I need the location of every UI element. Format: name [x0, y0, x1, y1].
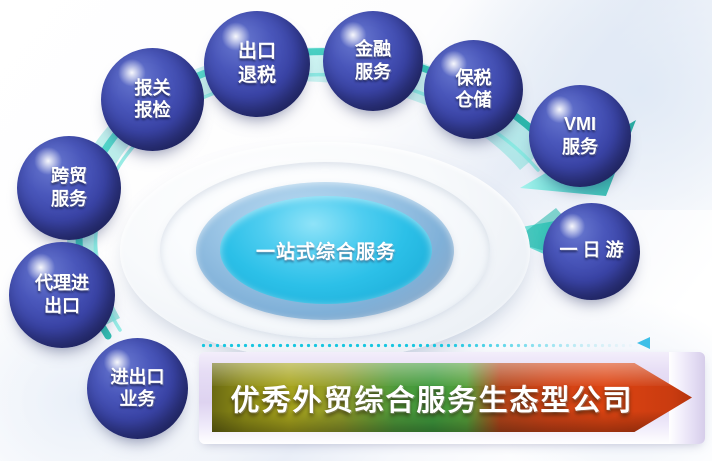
- node-label-line2: 业务: [120, 389, 156, 410]
- node-label-line1: 代理进: [35, 273, 89, 294]
- node-label-line2: 报检: [135, 100, 171, 121]
- center-label: 一站式综合服务: [220, 196, 432, 304]
- node-label-line2: 服务: [562, 137, 598, 158]
- node-sphere-baoguan-baojian[interactable]: 报关 报检: [101, 48, 204, 151]
- node-label-line1: 保税: [456, 68, 492, 89]
- node-sphere-vmi-fuwu[interactable]: VMI 服务: [529, 85, 631, 187]
- node-sphere-baoshui-cangchu[interactable]: 保税 仓储: [424, 40, 523, 139]
- node-label-line2: 仓储: [456, 90, 492, 111]
- node-label-line1: 进出口: [111, 367, 165, 388]
- node-label-line1: VMI: [564, 114, 596, 135]
- dotted-progress-line: [200, 341, 640, 348]
- node-sphere-chukou-tuishui[interactable]: 出口 退税: [204, 11, 310, 117]
- node-label-line1: 一 日 游: [559, 240, 623, 261]
- banner-text: 优秀外贸综合服务生态型公司: [212, 363, 652, 432]
- infographic-canvas: 一站式综合服务 报关 报检 出口 退税 金融 服务 保税 仓储 VMI 服务 一…: [0, 0, 712, 461]
- node-label-line1: 出口: [238, 41, 276, 63]
- node-label-line2: 出口: [44, 296, 80, 317]
- node-label-line1: 报关: [135, 78, 171, 99]
- node-sphere-jinchukou-yewu[interactable]: 进出口 业务: [87, 338, 188, 439]
- dotted-line-arrow-icon: [637, 337, 650, 349]
- node-label-line1: 跨贸: [51, 166, 87, 187]
- node-label-line2: 服务: [355, 62, 391, 83]
- node-label-line1: 金融: [355, 39, 391, 60]
- node-label-line2: 退税: [238, 65, 276, 87]
- node-sphere-daili-jinchukou[interactable]: 代理进 出口: [9, 242, 115, 348]
- node-sphere-yiriyou[interactable]: 一 日 游: [543, 203, 640, 300]
- node-sphere-kuamao-fuwu[interactable]: 跨贸 服务: [17, 136, 121, 240]
- node-sphere-jinrong-fuwu[interactable]: 金融 服务: [323, 11, 423, 111]
- node-label-line2: 服务: [51, 189, 87, 210]
